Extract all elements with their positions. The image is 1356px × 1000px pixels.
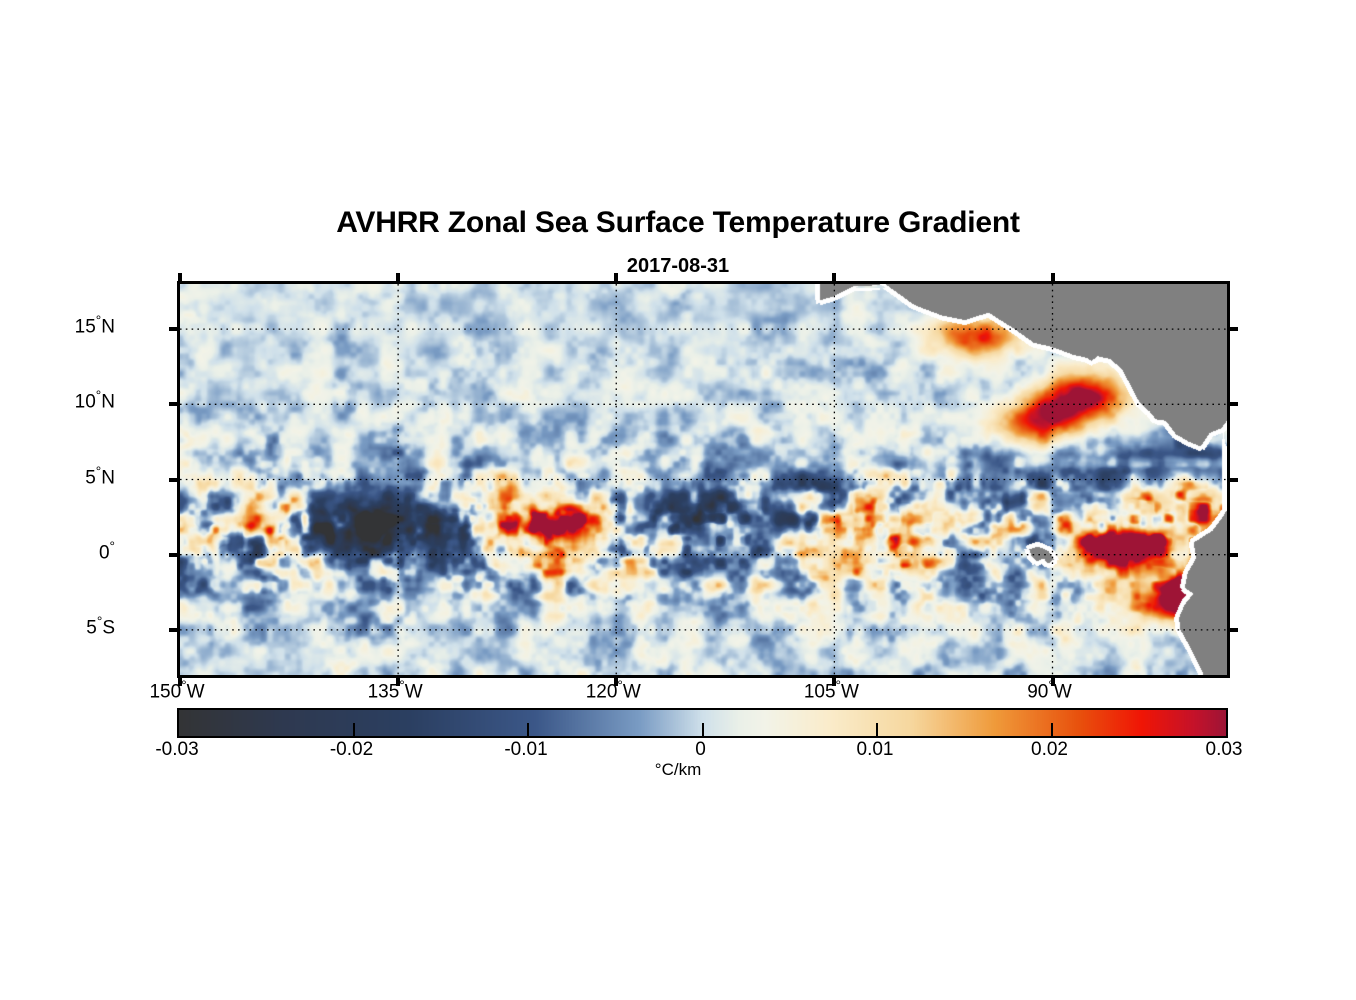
degree-symbol: °: [96, 388, 101, 403]
map-axes: [177, 281, 1230, 678]
colorbar-label-2: -0.01: [504, 740, 547, 759]
xtick-top-0: [178, 273, 182, 284]
ytick-label-2: 5°N: [85, 465, 115, 488]
colorbar-label-4: 0.01: [857, 740, 894, 759]
colorbar-label-5: 0.02: [1031, 740, 1068, 759]
colorbar-label-6: 0.03: [1206, 740, 1243, 759]
colorbar-tick-2: [527, 723, 529, 736]
colorbar-label-0: -0.03: [155, 740, 198, 759]
sst-gradient-heatmap: [180, 284, 1227, 675]
colorbar-label-3: 0: [695, 740, 706, 759]
ytick-label-3: 0°: [99, 540, 115, 563]
ytick-label-1: 10°N: [75, 389, 115, 412]
colorbar-unit-label: °C/km: [0, 760, 1356, 780]
degree-symbol: °: [181, 678, 186, 693]
xtick-label-1: 135°W: [368, 679, 423, 702]
degree-symbol: °: [617, 678, 622, 693]
xtick-label-0: 150°W: [149, 679, 204, 702]
ytick-right-3: [1227, 553, 1238, 557]
degree-symbol: °: [836, 678, 841, 693]
ytick-left-1: [169, 402, 180, 406]
colorbar-label-1: -0.02: [330, 740, 373, 759]
ytick-left-4: [169, 628, 180, 632]
ytick-left-3: [169, 553, 180, 557]
colorbar-tick-3: [702, 723, 704, 736]
xtick-label-3: 105°W: [804, 679, 859, 702]
ytick-label-4: 5°S: [86, 615, 115, 638]
figure-canvas: AVHRR Zonal Sea Surface Temperature Grad…: [0, 0, 1356, 1000]
degree-symbol: °: [1048, 678, 1053, 693]
xtick-label-2: 120°W: [586, 679, 641, 702]
xtick-top-2: [614, 273, 618, 284]
ytick-right-2: [1227, 478, 1238, 482]
xtick-label-4: 90°W: [1027, 679, 1072, 702]
xtick-top-3: [832, 273, 836, 284]
colorbar-tick-4: [876, 723, 878, 736]
degree-symbol: °: [110, 539, 115, 554]
ytick-label-0: 15°N: [75, 314, 115, 337]
degree-symbol: °: [96, 464, 101, 479]
colorbar-tick-1: [353, 723, 355, 736]
ytick-right-1: [1227, 402, 1238, 406]
degree-symbol: °: [97, 614, 102, 629]
degree-symbol: °: [399, 678, 404, 693]
ytick-left-2: [169, 478, 180, 482]
xtick-top-4: [1051, 273, 1055, 284]
figure-title: AVHRR Zonal Sea Surface Temperature Grad…: [0, 206, 1356, 240]
degree-symbol: °: [96, 313, 101, 328]
figure-subtitle: 2017-08-31: [0, 255, 1356, 278]
ytick-right-0: [1227, 327, 1238, 331]
colorbar-tick-5: [1051, 723, 1053, 736]
ytick-left-0: [169, 327, 180, 331]
colorbar: [177, 708, 1228, 738]
ytick-right-4: [1227, 628, 1238, 632]
xtick-top-1: [396, 273, 400, 284]
